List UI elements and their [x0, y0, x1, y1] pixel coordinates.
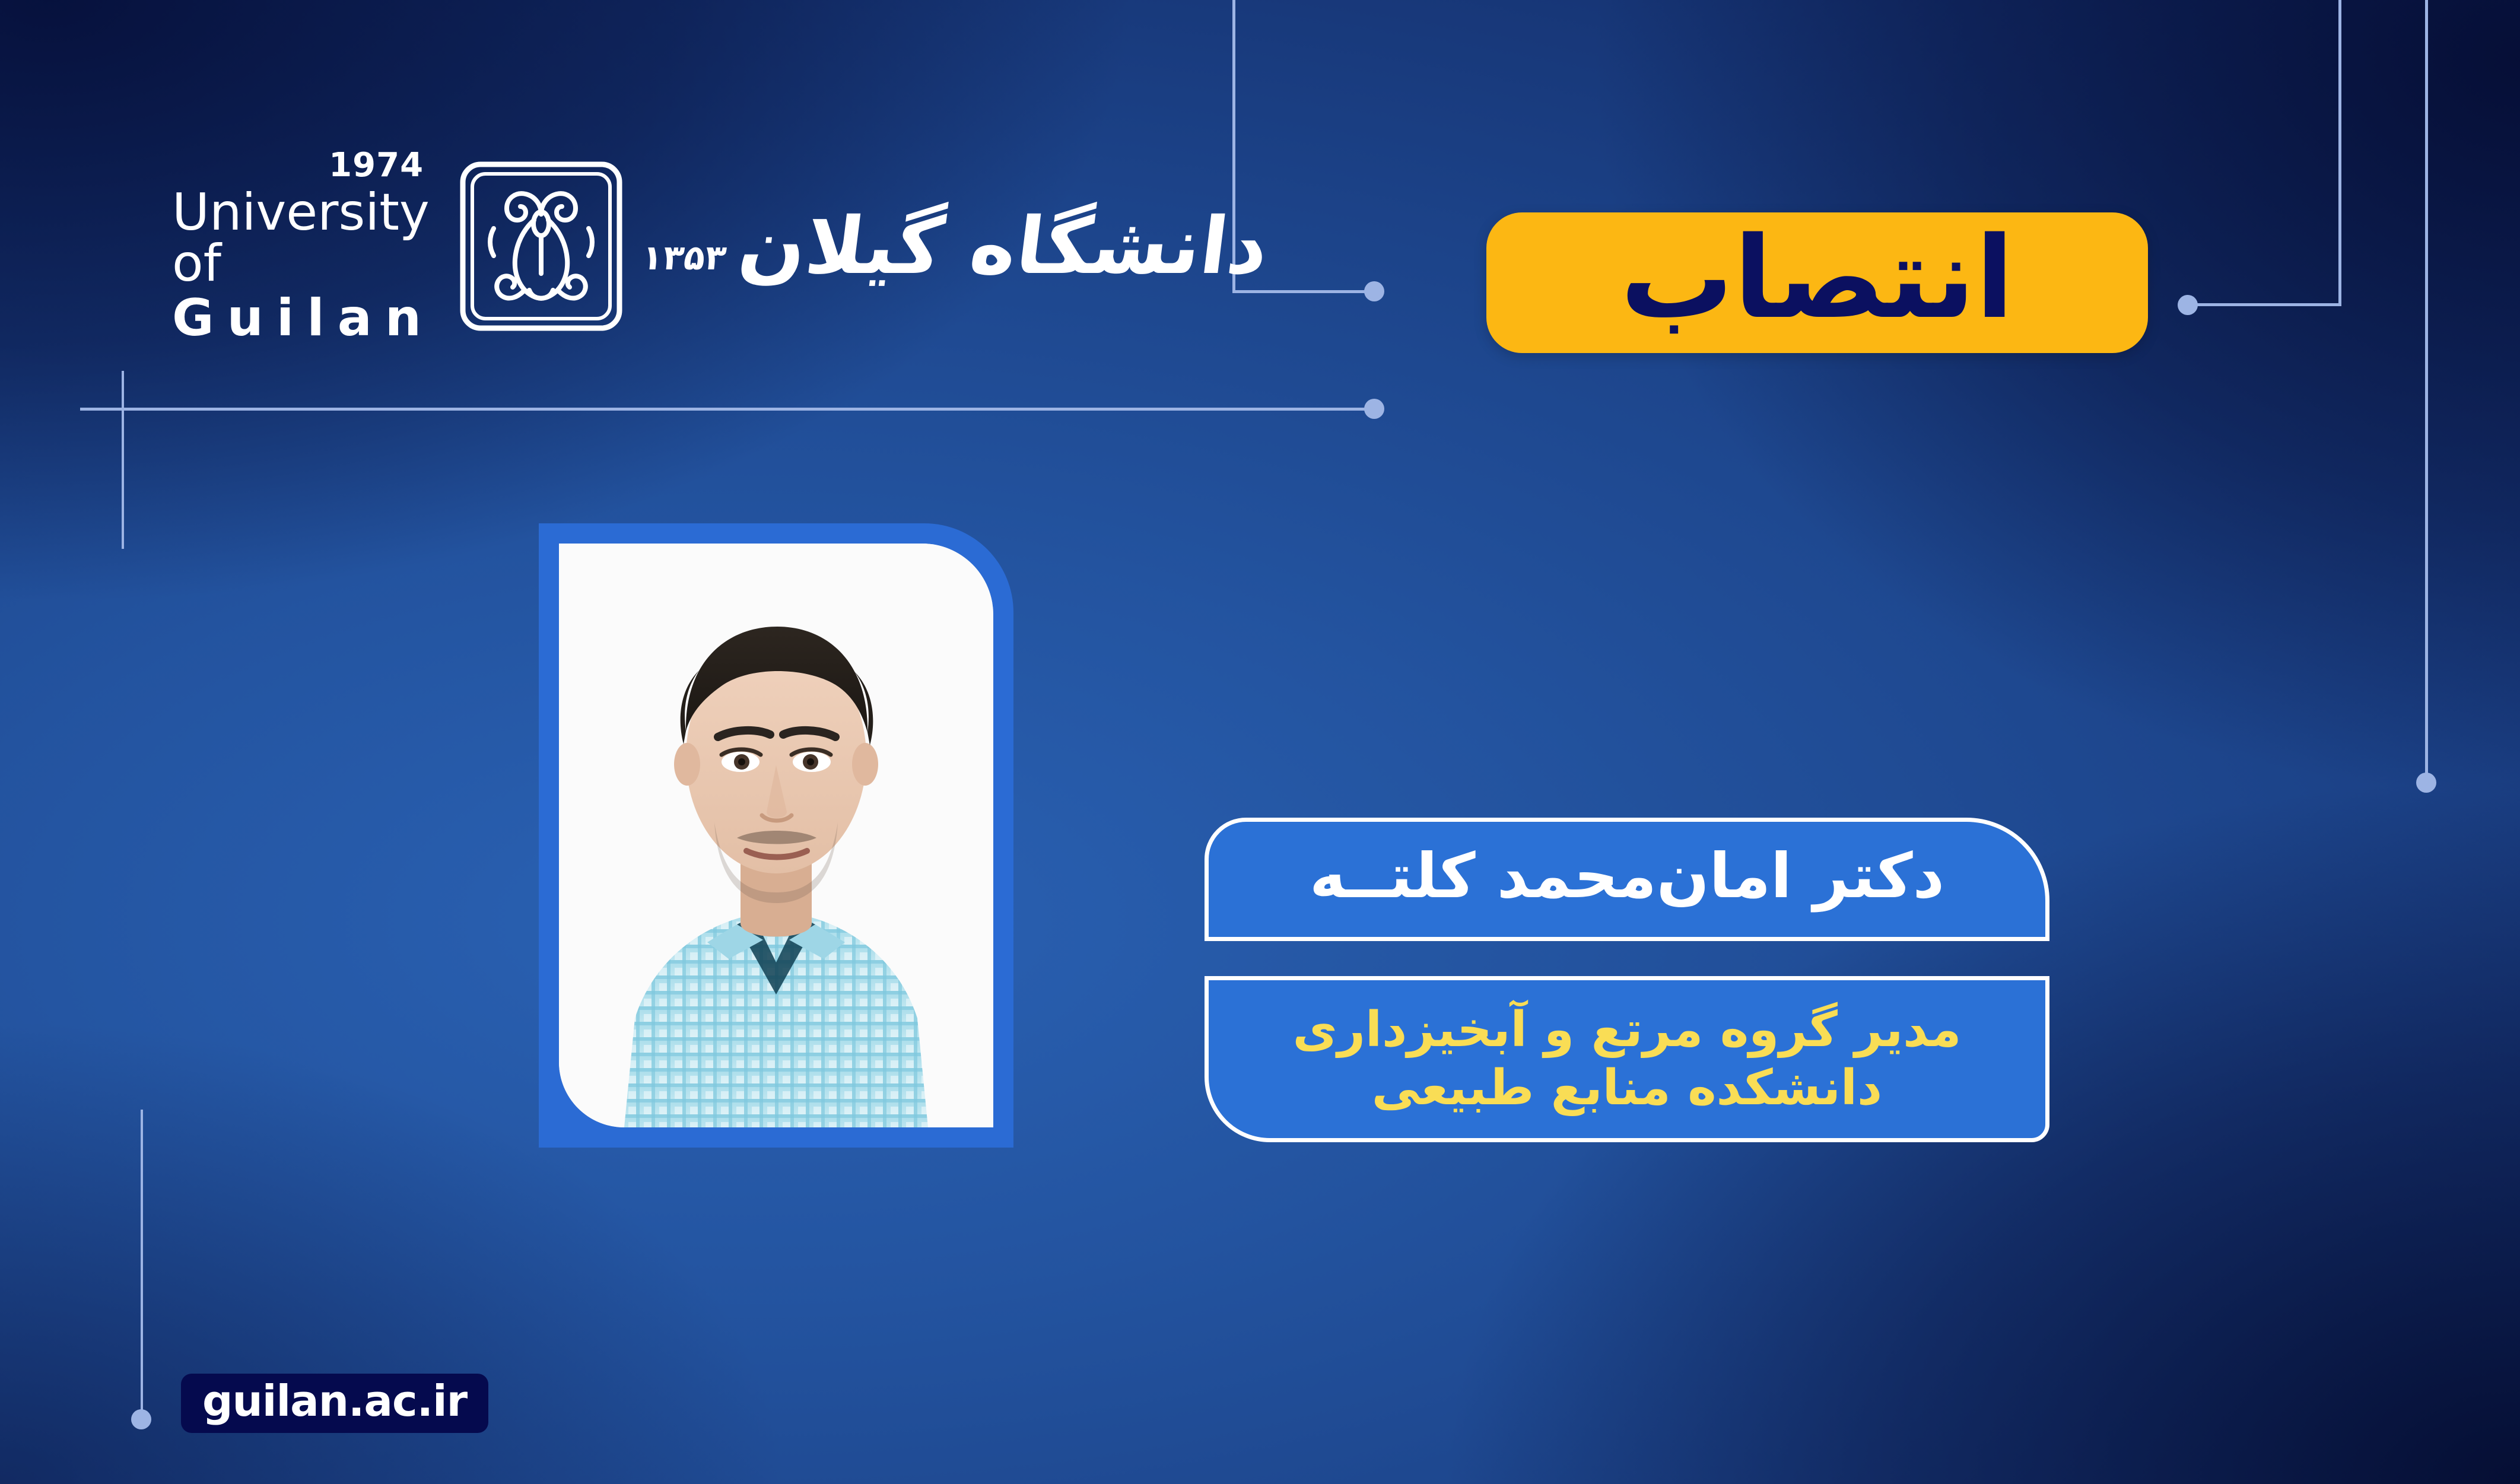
headline-badge: انتصاب: [1486, 212, 2148, 353]
logo-founding-year-en: 1974: [329, 149, 424, 182]
deco-line-top-left-horizontal: [80, 408, 1377, 411]
logo-university-name-fa: دانشگاه گیلان: [735, 207, 1273, 285]
deco-line-top-left-vertical: [122, 371, 124, 549]
deco-dot-bottom-left: [131, 1409, 151, 1429]
deco-dot-top-mid-lower: [1364, 399, 1384, 419]
guilan-emblem-icon: [452, 157, 630, 335]
website-url-badge[interactable]: guilan.ac.ir: [181, 1374, 488, 1433]
logo-university-of-label: University of: [172, 187, 434, 289]
logo-persian-text: دانشگاه گیلان ۱۳۵۳: [642, 207, 1267, 285]
deco-dot-right-edge: [2416, 773, 2436, 793]
person-role-line-1: مدیر گروه مرتع و آبخیزداری: [1293, 1003, 1962, 1057]
person-role-card: مدیر گروه مرتع و آبخیزداری دانشکده منابع…: [1205, 976, 2049, 1142]
logo-founding-year-fa: ۱۳۵۳: [640, 240, 728, 275]
logo-guilan-label: Guilan: [172, 293, 434, 344]
logo-english-text: 1974 University of Guilan: [172, 149, 434, 344]
deco-dot-top-right: [2178, 295, 2198, 315]
deco-line-bottom-left-vertical: [141, 1110, 143, 1418]
headline-label: انتصاب: [1620, 222, 2014, 335]
website-url: guilan.ac.ir: [202, 1380, 467, 1422]
deco-line-top-right-horizontal: [2195, 303, 2341, 306]
university-logo: 1974 University of Guilan دانشگاه گیلان …: [172, 148, 1216, 344]
deco-line-top-right-vertical: [2338, 0, 2341, 304]
portrait-photo: [559, 544, 993, 1127]
deco-line-right-edge-vertical: [2425, 0, 2428, 780]
person-name-card: دکتر امان‌محمد کلتــه: [1205, 818, 2049, 941]
portrait-illustration: [559, 544, 993, 1127]
person-role-line-2: دانشکده منابع طبیعی: [1372, 1061, 1882, 1116]
announcement-poster: 1974 University of Guilan دانشگاه گیلان …: [0, 0, 2520, 1484]
portrait-frame: [539, 523, 1013, 1148]
person-name: دکتر امان‌محمد کلتــه: [1310, 845, 1944, 907]
deco-dot-top-mid-upper: [1364, 281, 1384, 301]
